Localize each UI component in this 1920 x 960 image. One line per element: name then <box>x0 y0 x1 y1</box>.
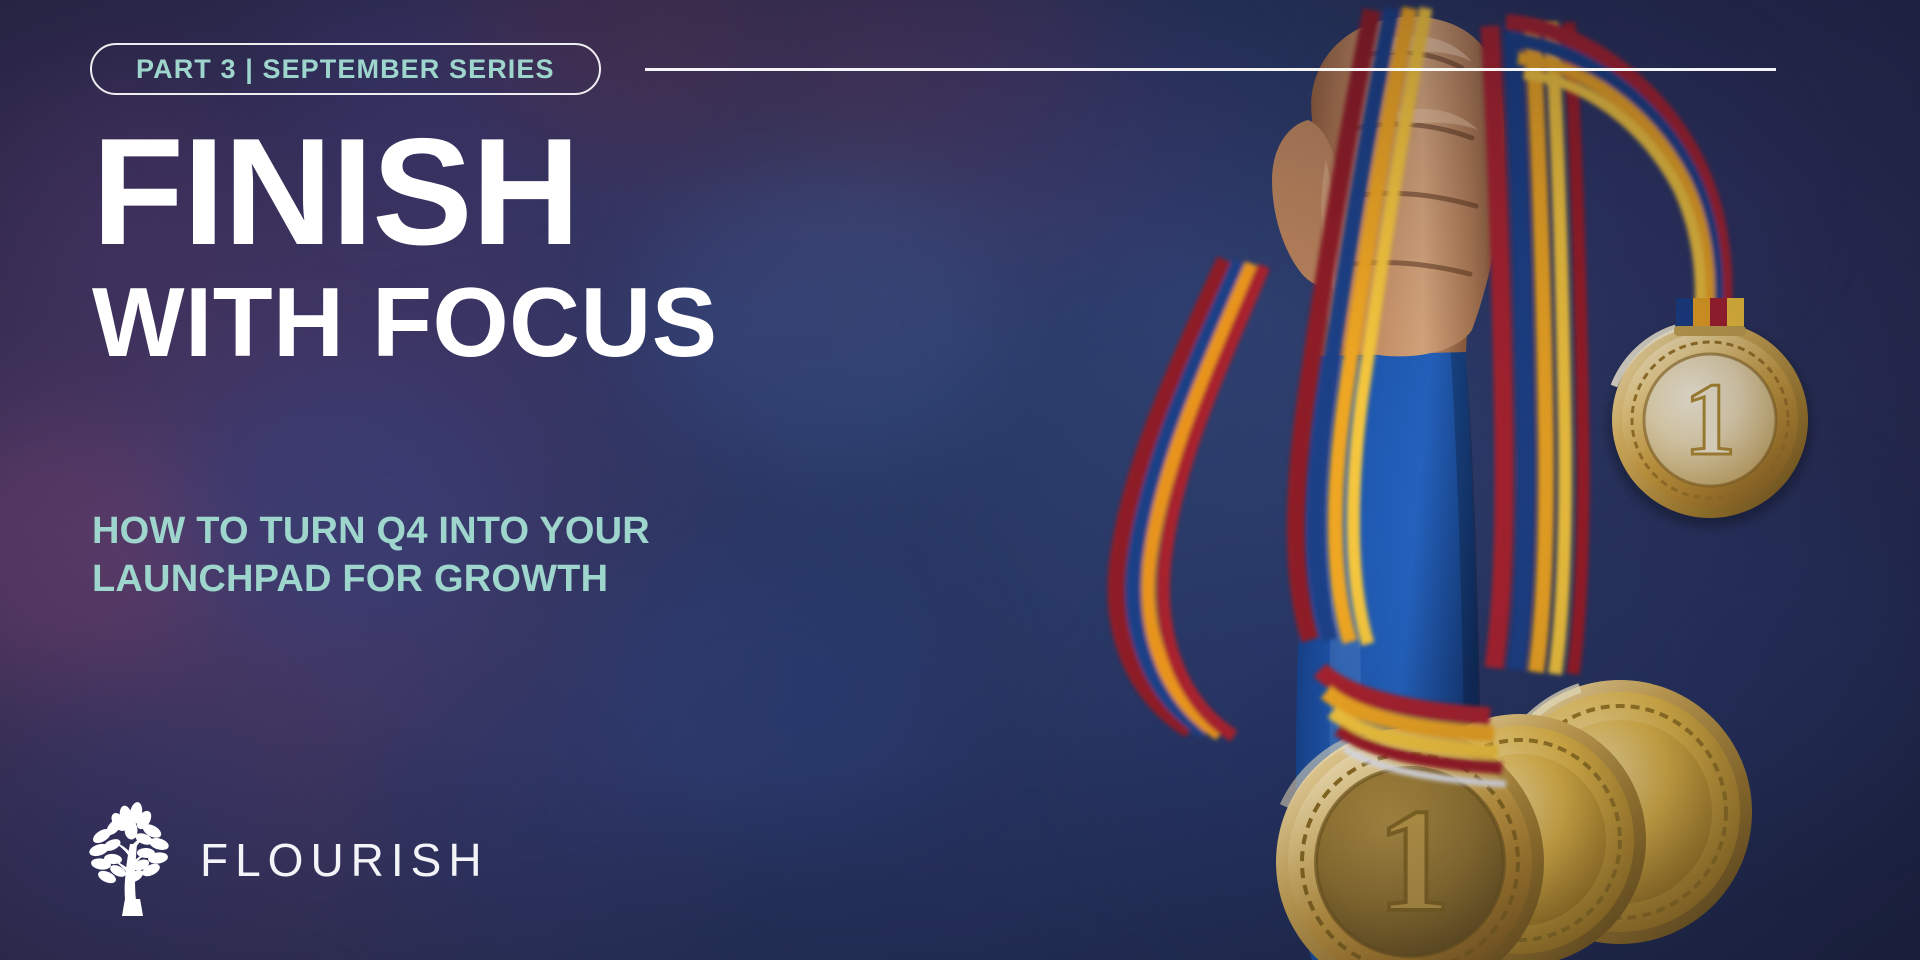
medals-photo: 1 <box>1020 0 1920 960</box>
brand-wordmark: FLOURISH <box>200 833 489 887</box>
ribbon-group-back <box>1116 260 1264 736</box>
brand-logo[interactable]: FLOURISH <box>86 800 489 920</box>
medal-top-number: 1 <box>1684 362 1736 477</box>
subtitle-line-2: LAUNCHPAD FOR GROWTH <box>92 556 812 604</box>
tree-icon <box>86 800 178 920</box>
subtitle-line-1: HOW TO TURN Q4 INTO YOUR <box>92 508 812 556</box>
eyebrow-row: PART 3 | SEPTEMBER SERIES <box>90 43 1810 95</box>
headline-line-2: WITH FOCUS <box>92 273 1092 371</box>
page-title: FINISH WITH FOCUS <box>92 122 1092 371</box>
eyebrow-label: PART 3 | SEPTEMBER SERIES <box>136 54 555 85</box>
subtitle: HOW TO TURN Q4 INTO YOUR LAUNCHPAD FOR G… <box>92 508 812 604</box>
medal-cluster-bottom: 1 <box>1276 670 1752 960</box>
banner-root: 1 <box>0 0 1920 960</box>
medal-front-number: 1 <box>1377 779 1451 943</box>
headline-line-1: FINISH <box>92 122 1082 263</box>
medal-top: 1 <box>1608 298 1812 528</box>
eyebrow-divider-rule <box>645 68 1776 71</box>
eyebrow-badge[interactable]: PART 3 | SEPTEMBER SERIES <box>90 43 601 95</box>
